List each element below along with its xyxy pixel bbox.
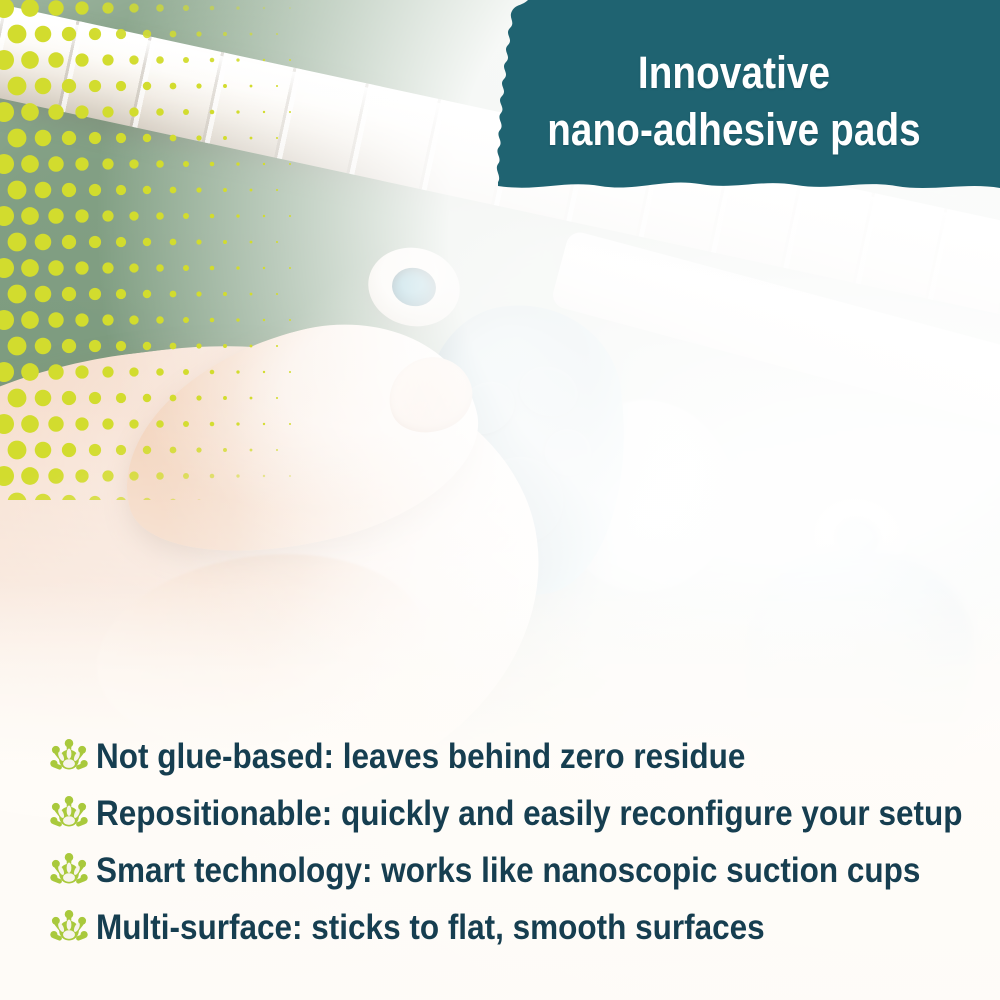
list-item-label: Repositionable: quickly and easily recon…: [96, 794, 962, 834]
headline-panel: Innovative nano-adhesive pads: [468, 0, 1000, 206]
product-feature-graphic: Innovative nano-adhesive pads: [0, 0, 1000, 1000]
gecko-foot-icon: [48, 736, 90, 778]
list-item-label: Smart technology: works like nanoscopic …: [96, 851, 920, 891]
list-item: Multi-surface: sticks to flat, smooth su…: [48, 899, 968, 956]
gecko-foot-icon: [48, 850, 90, 892]
halftone-dot-gradient: [0, 0, 300, 500]
headline: Innovative nano-adhesive pads: [505, 44, 963, 158]
gecko-foot-icon: [48, 793, 90, 835]
headline-line-1: Innovative: [521, 44, 948, 101]
list-item: Smart technology: works like nanoscopic …: [48, 842, 968, 899]
list-item-label: Not glue-based: leaves behind zero resid…: [96, 737, 745, 777]
list-item-label: Multi-surface: sticks to flat, smooth su…: [96, 908, 765, 948]
headline-line-2: nano-adhesive pads: [521, 101, 948, 158]
feature-list: Not glue-based: leaves behind zero resid…: [48, 728, 968, 956]
list-item: Not glue-based: leaves behind zero resid…: [48, 728, 968, 785]
gecko-foot-icon: [48, 907, 90, 949]
list-item: Repositionable: quickly and easily recon…: [48, 785, 968, 842]
